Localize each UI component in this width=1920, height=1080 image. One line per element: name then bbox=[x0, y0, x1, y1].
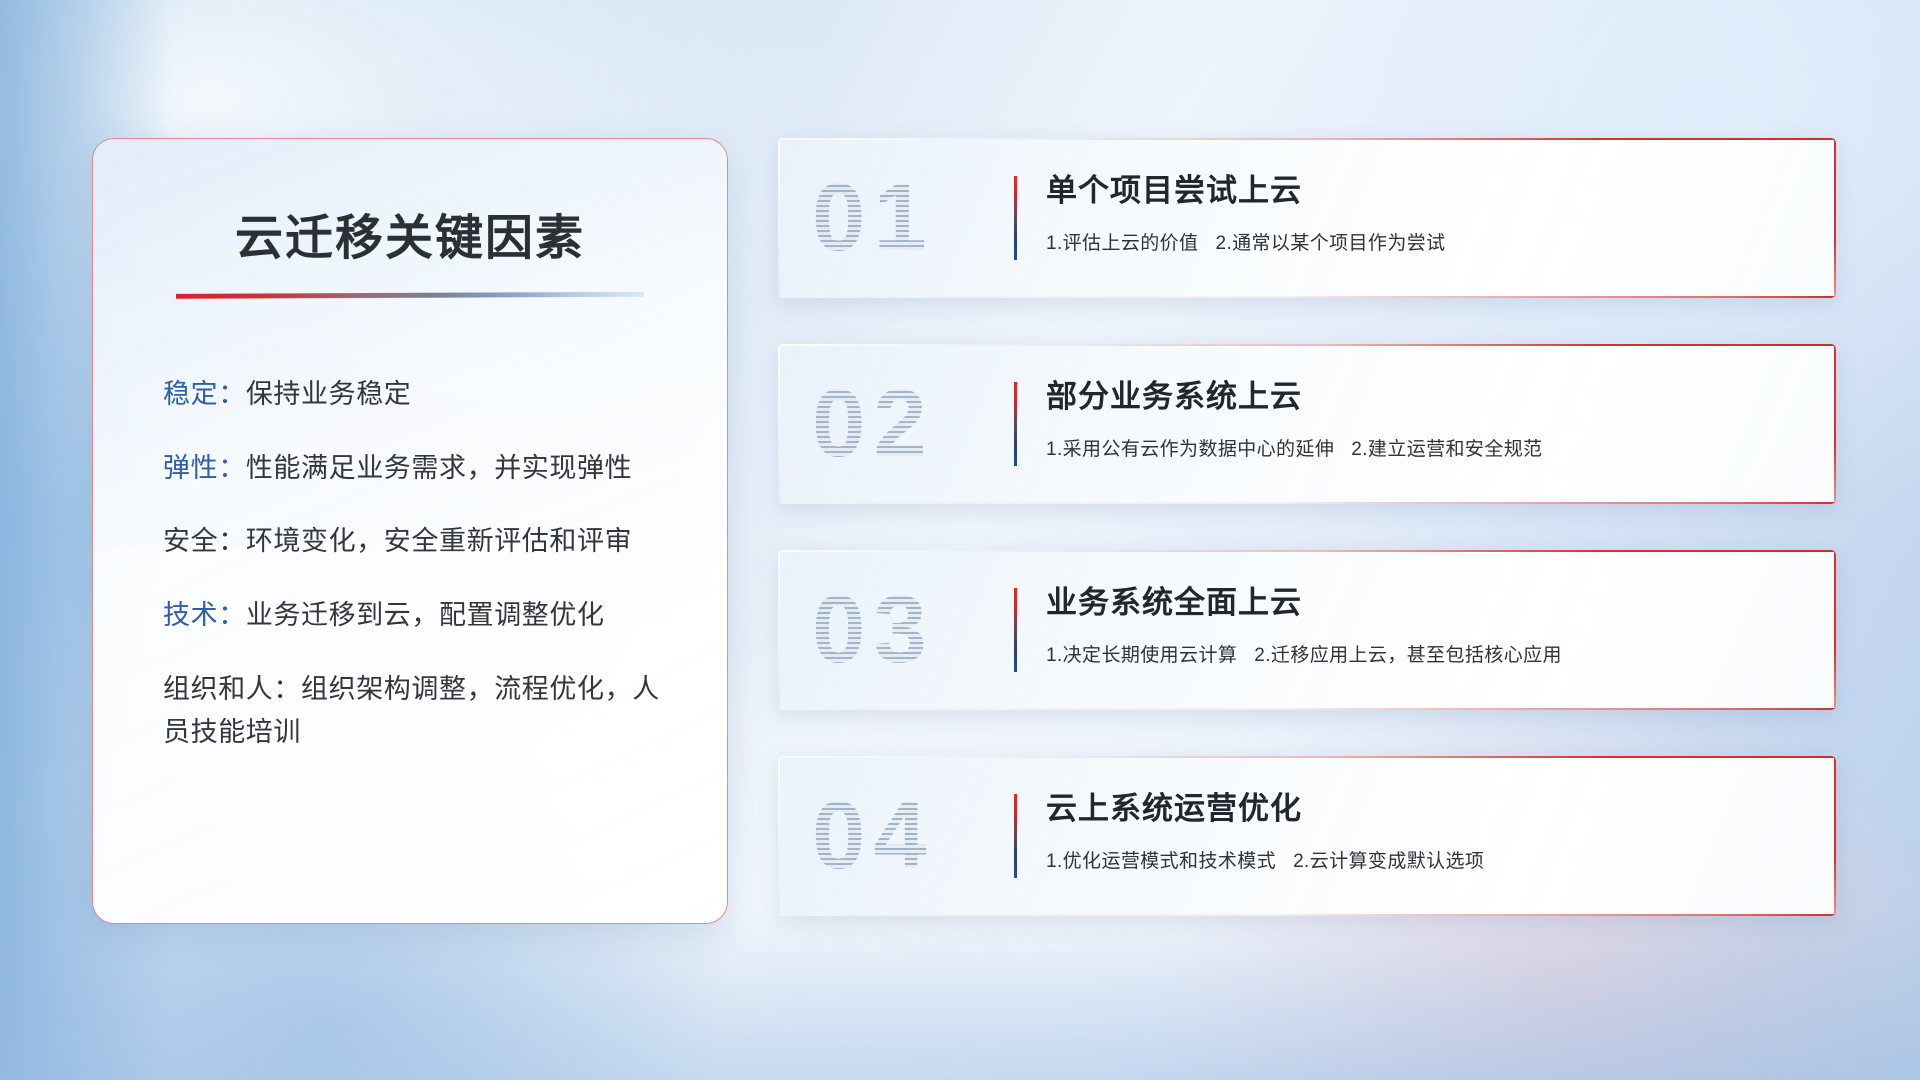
card-border-left bbox=[778, 756, 780, 916]
factor-label: 稳定： bbox=[163, 379, 246, 409]
card-border-top bbox=[778, 138, 1836, 140]
card-title: 单个项目尝试上云 bbox=[1046, 172, 1796, 211]
card-number: 03 bbox=[812, 582, 935, 678]
title-underline-rule bbox=[176, 292, 644, 299]
card-border-right bbox=[1834, 344, 1836, 504]
factor-item: 弹性：性能满足业务需求，并实现弹性 bbox=[163, 447, 681, 491]
card-border-bottom bbox=[778, 708, 1836, 710]
factor-item: 安全：环境变化，安全重新评估和评审 bbox=[163, 520, 681, 564]
card-border-left bbox=[778, 344, 780, 504]
card-border-top bbox=[778, 550, 1836, 552]
factor-text: 性能满足业务需求，并实现弹性 bbox=[246, 453, 632, 483]
card-accent-divider bbox=[1014, 176, 1017, 260]
card-border-top bbox=[778, 756, 1836, 758]
card-body: 部分业务系统上云1.采用公有云作为数据中心的延伸 2.建立运营和安全规范 bbox=[1046, 378, 1796, 463]
factor-label: 安全： bbox=[163, 526, 246, 556]
factor-label: 技术： bbox=[163, 600, 246, 630]
card-accent-divider bbox=[1014, 794, 1017, 878]
card-border-top bbox=[778, 344, 1836, 346]
stage-card-list: 0101单个项目尝试上云1.评估上云的价值 2.通常以某个项目作为尝试0202部… bbox=[778, 138, 1836, 916]
card-border-right bbox=[1834, 550, 1836, 710]
card-number: 01 bbox=[812, 170, 935, 266]
factor-text: 业务迁移到云，配置调整优化 bbox=[246, 600, 605, 630]
card-number: 04 bbox=[812, 788, 935, 884]
card-title: 云上系统运营优化 bbox=[1046, 790, 1796, 829]
card-border-left bbox=[778, 550, 780, 710]
card-description: 1.采用公有云作为数据中心的延伸 2.建立运营和安全规范 bbox=[1046, 437, 1796, 464]
card-title: 部分业务系统上云 bbox=[1046, 378, 1796, 417]
card-body: 单个项目尝试上云1.评估上云的价值 2.通常以某个项目作为尝试 bbox=[1046, 172, 1796, 257]
slide-stage: 云迁移关键因素 稳定：保持业务稳定弹性：性能满足业务需求，并实现弹性安全：环境变… bbox=[0, 0, 1920, 1080]
factor-text: 保持业务稳定 bbox=[246, 379, 412, 409]
card-border-right bbox=[1834, 756, 1836, 916]
factor-item: 技术：业务迁移到云，配置调整优化 bbox=[163, 594, 681, 638]
card-border-bottom bbox=[778, 914, 1836, 916]
card-border-bottom bbox=[778, 502, 1836, 504]
panel-content: 云迁移关键因素 稳定：保持业务稳定弹性：性能满足业务需求，并实现弹性安全：环境变… bbox=[93, 139, 727, 755]
factor-text: 环境变化，安全重新评估和评审 bbox=[246, 526, 632, 556]
card-description: 1.优化运营模式和技术模式 2.云计算变成默认选项 bbox=[1046, 849, 1796, 876]
factor-list: 稳定：保持业务稳定弹性：性能满足业务需求，并实现弹性安全：环境变化，安全重新评估… bbox=[139, 373, 681, 755]
card-number: 02 bbox=[812, 376, 935, 472]
stage-card[interactable]: 0303业务系统全面上云1.决定长期使用云计算 2.迁移应用上云，甚至包括核心应… bbox=[778, 550, 1836, 710]
card-title: 业务系统全面上云 bbox=[1046, 584, 1796, 623]
card-description: 1.决定长期使用云计算 2.迁移应用上云，甚至包括核心应用 bbox=[1046, 643, 1796, 670]
card-body: 业务系统全面上云1.决定长期使用云计算 2.迁移应用上云，甚至包括核心应用 bbox=[1046, 584, 1796, 669]
key-factors-panel: 云迁移关键因素 稳定：保持业务稳定弹性：性能满足业务需求，并实现弹性安全：环境变… bbox=[92, 138, 728, 924]
card-body: 云上系统运营优化1.优化运营模式和技术模式 2.云计算变成默认选项 bbox=[1046, 790, 1796, 875]
page-title: 云迁移关键因素 bbox=[139, 213, 681, 266]
factor-label: 弹性： bbox=[163, 453, 246, 483]
stage-card[interactable]: 0202部分业务系统上云1.采用公有云作为数据中心的延伸 2.建立运营和安全规范 bbox=[778, 344, 1836, 504]
card-accent-divider bbox=[1014, 588, 1017, 672]
stage-card[interactable]: 0101单个项目尝试上云1.评估上云的价值 2.通常以某个项目作为尝试 bbox=[778, 138, 1836, 298]
card-border-bottom bbox=[778, 296, 1836, 298]
card-description: 1.评估上云的价值 2.通常以某个项目作为尝试 bbox=[1046, 231, 1796, 258]
factor-label: 组织和人： bbox=[163, 674, 301, 704]
stage-card[interactable]: 0404云上系统运营优化1.优化运营模式和技术模式 2.云计算变成默认选项 bbox=[778, 756, 1836, 916]
card-border-left bbox=[778, 138, 780, 298]
factor-item: 组织和人：组织架构调整，流程优化，人员技能培训 bbox=[163, 668, 681, 755]
card-border-right bbox=[1834, 138, 1836, 298]
card-accent-divider bbox=[1014, 382, 1017, 466]
factor-item: 稳定：保持业务稳定 bbox=[163, 373, 681, 417]
